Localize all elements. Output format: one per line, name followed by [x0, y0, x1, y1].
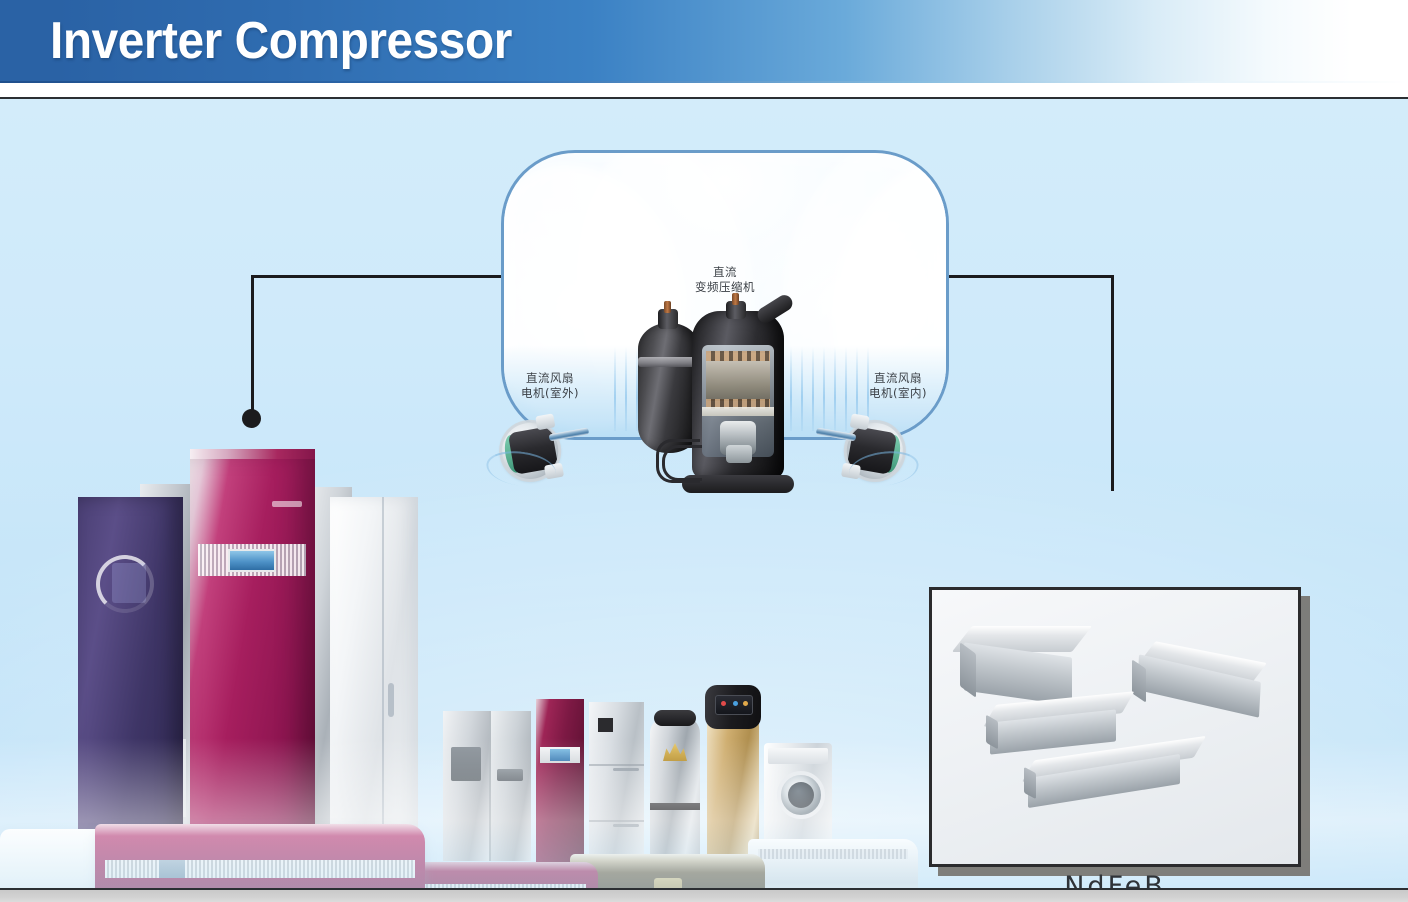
- label-dc-fan-motor-outdoor: 直流风扇 电机(室外): [500, 371, 600, 401]
- refrigerator-door-seam: [489, 711, 491, 861]
- header-banner: Inverter Compressor: [0, 0, 1408, 83]
- bottom-strip: [0, 890, 1408, 902]
- connector-line-right-vertical: [1111, 275, 1114, 491]
- connector-line-left-horizontal: [251, 275, 511, 278]
- compressor-stator-windings-top: [706, 351, 770, 361]
- floor-ac-purple-display: [112, 563, 146, 603]
- wall-ac-magenta-grille: [105, 860, 415, 878]
- appliance-wall-ac-silver: [748, 839, 918, 890]
- appliance-wall-ac-gold: [570, 854, 765, 890]
- water-heater-top-cap-silver: [654, 710, 696, 726]
- wall-ac-magenta-grille-highlight: [159, 860, 185, 878]
- label-dc-inverter-compressor: 直流 变频压缩机: [660, 265, 790, 295]
- fan-motor-bracket-top-right: [850, 413, 870, 430]
- compressor-rotor-band: [702, 407, 774, 416]
- compressor-accumulator: [638, 323, 700, 453]
- refrigerator-seam-lower: [589, 820, 644, 822]
- washer-control-panel: [768, 748, 828, 764]
- refrigerator-handle-lower: [613, 824, 639, 827]
- water-heater-crown-emblem: [663, 743, 687, 761]
- page-title: Inverter Compressor: [50, 8, 512, 74]
- fan-motor-bracket-top-left: [535, 413, 555, 430]
- floor-ac-white-seam: [382, 497, 384, 842]
- floor-ac-magenta-brand-mark: [272, 501, 302, 507]
- appliance-floor-ac-purple: [78, 497, 183, 842]
- wall-ac-silver-grille: [758, 849, 908, 859]
- connector-dot-left: [242, 409, 261, 428]
- refrigerator-handle-panel: [497, 769, 523, 781]
- connector-line-left-vertical: [251, 275, 254, 417]
- dc-fan-motor-indoor-image: [813, 407, 916, 492]
- compressor-suction-tube-inner: [662, 445, 702, 481]
- dc-inverter-compressor-image: [630, 299, 820, 499]
- appliance-heat-pump-water-heater-silver: [650, 717, 700, 865]
- floor-ac-magenta-top-edge: [190, 449, 315, 459]
- water-heater-mid-band: [650, 803, 700, 810]
- label-dc-fan-motor-indoor: 直流风扇 电机(室内): [848, 371, 948, 401]
- appliance-floor-ac-wine: [536, 699, 584, 864]
- accumulator-band: [638, 357, 700, 367]
- compressor-pump-body: [726, 445, 752, 463]
- appliance-floor-ac-magenta: [190, 449, 315, 842]
- water-heater-indicator-2: [733, 701, 738, 706]
- appliance-wall-ac-wine: [408, 862, 598, 890]
- header-underline: [0, 81, 1408, 83]
- appliance-bottom-freezer-refrigerator: [589, 702, 644, 864]
- floor-ac-white-handle: [388, 683, 394, 717]
- floor-ac-magenta-display: [228, 549, 276, 572]
- water-heater-indicator-3: [743, 701, 748, 706]
- connector-line-right-horizontal: [936, 275, 1114, 278]
- dc-fan-motor-outdoor-image: [490, 407, 593, 492]
- washer-drum: [788, 782, 814, 808]
- refrigerator-badge: [598, 718, 613, 732]
- accumulator-copper-pipe: [664, 301, 671, 313]
- fan-motor-shaft-left: [549, 428, 590, 442]
- refrigerator-handle-upper: [613, 768, 639, 771]
- water-heater-indicator-1: [721, 701, 726, 706]
- wall-ac-gold-emblem: [654, 878, 682, 890]
- appliance-wall-ac-magenta: [95, 824, 425, 890]
- appliance-side-by-side-refrigerator-left: [443, 711, 491, 861]
- appliance-floor-ac-white: [330, 497, 418, 842]
- appliance-side-by-side-refrigerator-right: [489, 711, 531, 861]
- main-illustration-panel: 直流 变频压缩机 直流风扇 电机(室外) 直流风扇 电机(室内): [0, 97, 1408, 890]
- refrigerator-dispenser: [451, 747, 481, 781]
- ndfeb-label: NdFeB: [929, 871, 1301, 890]
- floor-ac-wine-display: [550, 749, 570, 761]
- refrigerator-seam-upper: [589, 764, 644, 766]
- ndfeb-magnet-panel: [929, 587, 1301, 867]
- slide-root: Inverter Compressor: [0, 0, 1408, 902]
